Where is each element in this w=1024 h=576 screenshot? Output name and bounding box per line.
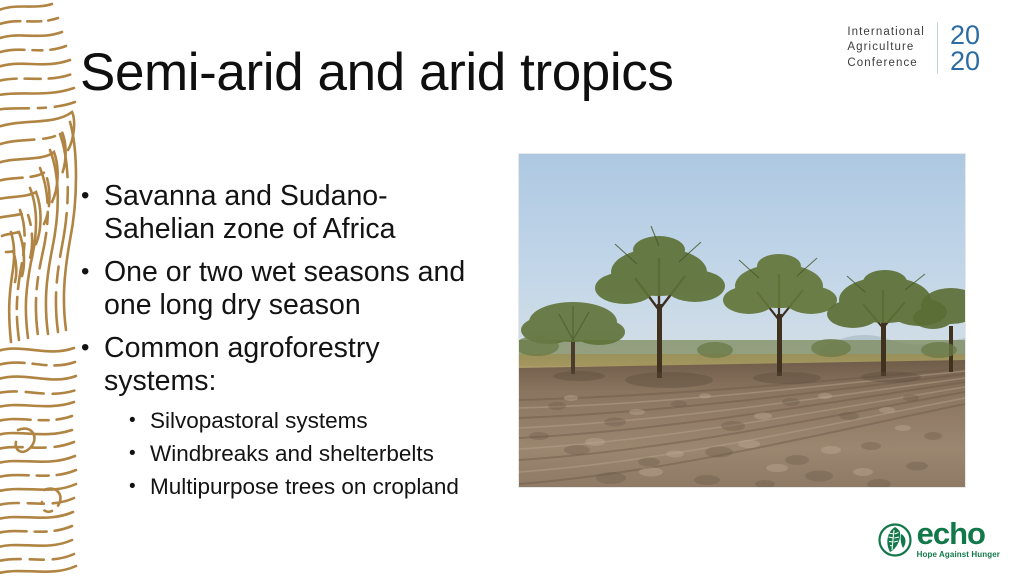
conference-logo-line-3: Conference xyxy=(847,56,925,72)
slide-photo xyxy=(518,153,966,488)
sub-bullet-text: Multipurpose trees on cropland xyxy=(150,474,459,499)
conference-logo-divider xyxy=(937,22,938,74)
conference-logo-line-1: International xyxy=(847,25,925,41)
bullet-text: Common agroforestry systems: xyxy=(104,332,380,397)
savanna-field-illustration xyxy=(519,154,965,487)
bullet-text: One or two wet seasons and one long dry … xyxy=(104,256,465,321)
bullet-item: One or two wet seasons and one long dry … xyxy=(78,256,498,322)
bullet-list-level-2: Silvopastoral systems Windbreaks and she… xyxy=(104,404,498,503)
echo-wordmark-block: echo Hope Against Hunger xyxy=(917,519,1000,560)
sub-bullet-text: Silvopastoral systems xyxy=(150,408,368,433)
echo-wordmark: echo xyxy=(917,519,1000,549)
conference-logo-text: International Agriculture Conference xyxy=(847,25,925,72)
bullet-item: Savanna and Sudano-Sahelian zone of Afri… xyxy=(78,180,498,246)
conference-year-bottom: 20 xyxy=(950,48,980,74)
bullet-list-container: Savanna and Sudano-Sahelian zone of Afri… xyxy=(78,180,498,513)
sub-bullet-item: Multipurpose trees on cropland xyxy=(126,470,498,503)
sub-bullet-text: Windbreaks and shelterbelts xyxy=(150,441,434,466)
sub-bullet-wrapper: Silvopastoral systems Windbreaks and she… xyxy=(104,404,498,503)
slide-canvas: International Agriculture Conference 20 … xyxy=(0,0,1024,576)
sub-bullet-item: Silvopastoral systems xyxy=(126,404,498,437)
bullet-item: Common agroforestry systems: Silvopastor… xyxy=(78,332,498,503)
conference-logo: International Agriculture Conference 20 … xyxy=(847,22,980,74)
conference-year: 20 20 xyxy=(950,22,980,74)
echo-leaf-globe-icon xyxy=(878,523,912,557)
bullet-list-level-1: Savanna and Sudano-Sahelian zone of Afri… xyxy=(78,180,498,503)
conference-logo-line-2: Agriculture xyxy=(847,40,925,56)
slide-title: Semi-arid and arid tropics xyxy=(80,42,840,104)
contour-lines-svg xyxy=(0,0,80,576)
conference-year-top: 20 xyxy=(950,22,980,48)
bullet-text: Savanna and Sudano-Sahelian zone of Afri… xyxy=(104,180,396,245)
echo-tagline: Hope Against Hunger xyxy=(917,550,1000,560)
sub-bullet-item: Windbreaks and shelterbelts xyxy=(126,437,498,470)
echo-logo: echo Hope Against Hunger xyxy=(878,519,1000,560)
topographic-contour-pattern xyxy=(0,0,80,576)
